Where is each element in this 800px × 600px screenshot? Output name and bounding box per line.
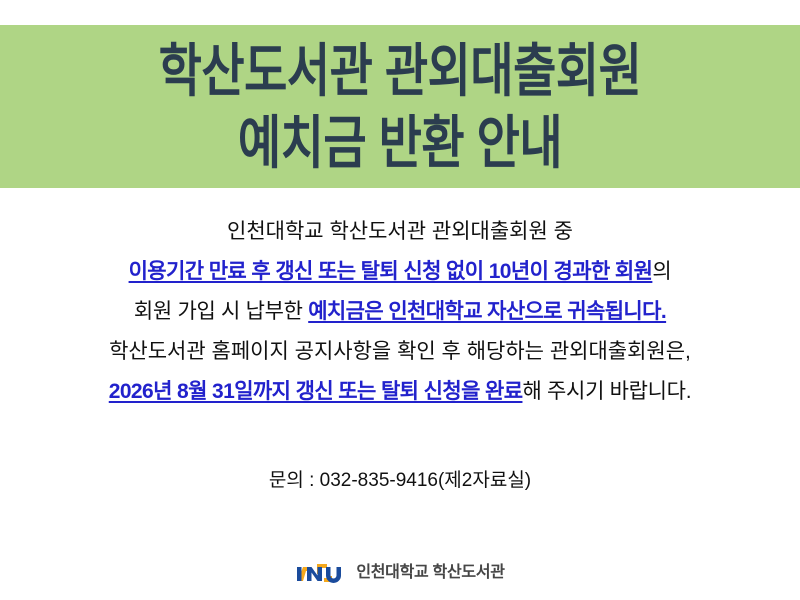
body-text-block: 인천대학교 학산도서관 관외대출회원 중 이용기간 만료 후 갱신 또는 탈퇴 … [0,212,800,412]
inu-logo-icon [295,561,347,585]
emphasis-text: 예치금은 인천대학교 자산으로 귀속됩니다. [308,300,666,323]
body-line-2: 이용기간 만료 후 갱신 또는 탈퇴 신청 없이 10년이 경과한 회원의 [0,252,800,292]
body-line-1: 인천대학교 학산도서관 관외대출회원 중 [0,212,800,252]
plain-text: 회원 가입 시 납부한 [134,300,308,323]
body-line-4: 학산도서관 홈페이지 공지사항을 확인 후 해당하는 관외대출회원은, [0,332,800,372]
plain-text: 해 주시기 바랍니다. [522,380,691,403]
plain-text: 학산도서관 홈페이지 공지사항을 확인 후 해당하는 관외대출회원은, [109,340,691,363]
contact-line: 문의 : 032-835-9416(제2자료실) [0,468,800,494]
plain-text: 인천대학교 학산도서관 관외대출회원 중 [227,220,573,243]
header-band: 학산도서관 관외대출회원 예치금 반환 안내 [0,25,800,188]
poster-title-line-2: 예치금 반환 안내 [238,106,562,179]
footer: 인천대학교 학산도서관 [0,555,800,591]
footer-organization-name: 인천대학교 학산도서관 [356,561,504,585]
emphasis-text: 이용기간 만료 후 갱신 또는 탈퇴 신청 없이 10년이 경과한 회원 [129,260,653,283]
notice-poster: 학산도서관 관외대출회원 예치금 반환 안내 인천대학교 학산도서관 관외대출회… [0,0,800,600]
emphasis-text: 2026년 8월 31일까지 갱신 또는 탈퇴 신청을 완료 [109,380,523,403]
body-line-3: 회원 가입 시 납부한 예치금은 인천대학교 자산으로 귀속됩니다. [0,292,800,332]
plain-text: 의 [652,260,671,283]
poster-title-line-1: 학산도서관 관외대출회원 [159,34,642,107]
body-line-5: 2026년 8월 31일까지 갱신 또는 탈퇴 신청을 완료해 주시기 바랍니다… [0,372,800,412]
